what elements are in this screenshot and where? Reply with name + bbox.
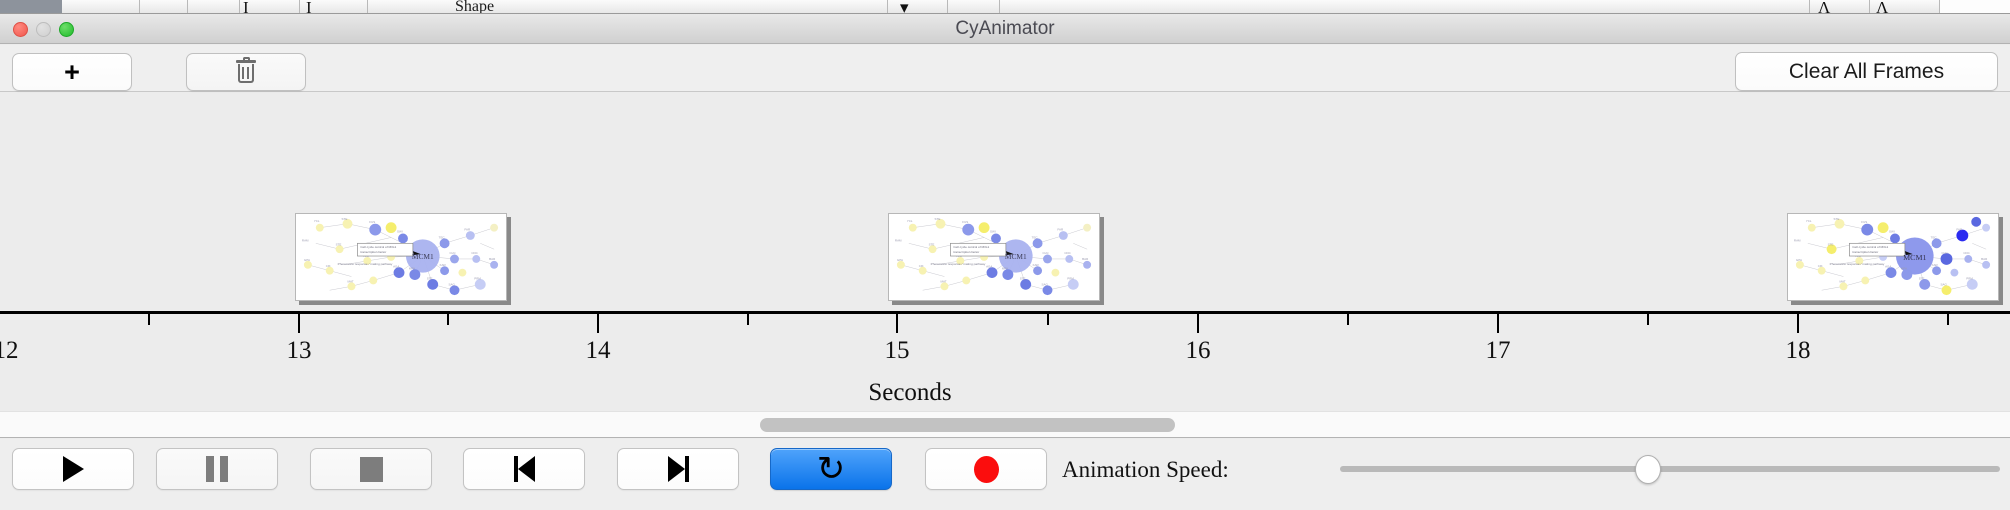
hub-node-label: MCM1 bbox=[1903, 253, 1926, 262]
clear-all-frames-label: Clear All Frames bbox=[1789, 60, 1944, 84]
axis-tick-label: 14 bbox=[586, 337, 611, 365]
axis-minor-tick bbox=[1647, 314, 1649, 325]
stop-icon bbox=[360, 457, 383, 482]
keyframe-thumbnail-3[interactable]: YCLSTE FUSSWI TECFAR CLNCDC BARKAR MFAAG… bbox=[1787, 213, 1999, 301]
keyframe-thumbnail-1[interactable]: YCLSTE FUSSWI TECFAR CLNCDC BARKAR MFAAG… bbox=[295, 213, 507, 301]
axis-major-tick bbox=[1797, 314, 1799, 333]
slider-track[interactable] bbox=[1340, 466, 2000, 472]
svg-text:TEC: TEC bbox=[1931, 235, 1938, 239]
svg-text:PRM: PRM bbox=[1067, 276, 1074, 280]
svg-text:BAR: BAR bbox=[1981, 257, 1987, 261]
axis-tick-label: 12 bbox=[0, 337, 19, 365]
svg-text:SAG: SAG bbox=[1941, 282, 1948, 286]
svg-text:FAR: FAR bbox=[464, 228, 470, 232]
timeline-panel[interactable]: YCLSTE FUSSWI TECFAR CLNCDC BARKAR MFAAG… bbox=[0, 93, 2010, 410]
axis-tick-label: 17 bbox=[1486, 337, 1511, 365]
svg-text:TEC: TEC bbox=[1032, 235, 1039, 239]
svg-text:transcription factor: transcription factor bbox=[360, 250, 386, 254]
svg-text:AGA: AGA bbox=[986, 265, 992, 269]
svg-text:GPA: GPA bbox=[897, 258, 903, 262]
svg-text:Pheromone response / mating pa: Pheromone response / mating pathway bbox=[931, 262, 986, 266]
svg-text:Cell cycle control of M/G1: Cell cycle control of M/G1 bbox=[360, 245, 396, 249]
add-frame-button[interactable]: + bbox=[12, 53, 132, 91]
svg-text:RAM: RAM bbox=[302, 238, 309, 242]
record-icon bbox=[974, 456, 999, 483]
title-bar: CyAnimator bbox=[0, 14, 2010, 44]
svg-text:FUS: FUS bbox=[962, 220, 968, 224]
svg-text:Pheromone response / mating pa: Pheromone response / mating pathway bbox=[338, 262, 393, 266]
axis-minor-tick bbox=[747, 314, 749, 325]
svg-text:SWI: SWI bbox=[1889, 230, 1895, 234]
svg-text:CIK: CIK bbox=[919, 264, 924, 268]
svg-text:FAR: FAR bbox=[1956, 228, 1962, 232]
frame-toolbar: + Clear All Frames bbox=[0, 45, 2010, 92]
animation-speed-label: Animation Speed: bbox=[1062, 457, 1229, 483]
svg-text:CLN: CLN bbox=[1942, 251, 1948, 255]
scrollbar-thumb[interactable] bbox=[760, 418, 1175, 432]
background-window-sliver: I I ▾ Λ Λ Shape bbox=[0, 0, 2010, 14]
svg-text:Cell cycle control of M/G1: Cell cycle control of M/G1 bbox=[953, 245, 989, 249]
svg-text:SAG: SAG bbox=[1042, 282, 1049, 286]
hub-node-label: MCM1 bbox=[412, 252, 434, 261]
axis-tick-label: 13 bbox=[287, 337, 312, 365]
timeline-axis[interactable]: 12 13 14 15 16 17 18 Seconds bbox=[0, 311, 2010, 410]
axis-minor-tick bbox=[148, 314, 150, 325]
svg-text:AGA: AGA bbox=[1885, 265, 1891, 269]
svg-text:GPA: GPA bbox=[304, 258, 310, 262]
clear-all-frames-button[interactable]: Clear All Frames bbox=[1735, 52, 1998, 91]
svg-text:STE: STE bbox=[427, 276, 433, 280]
svg-text:CDC: CDC bbox=[471, 251, 478, 255]
svg-text:CIK: CIK bbox=[326, 264, 331, 268]
svg-text:MFA: MFA bbox=[1002, 267, 1008, 271]
axis-minor-tick bbox=[1347, 314, 1349, 325]
svg-text:SWI: SWI bbox=[397, 230, 403, 234]
pause-button[interactable] bbox=[156, 448, 278, 490]
axis-title: Seconds bbox=[0, 379, 2010, 407]
svg-text:SWI: SWI bbox=[990, 230, 996, 234]
background-window-selected-row bbox=[0, 0, 62, 13]
svg-text:MFA: MFA bbox=[409, 267, 415, 271]
axis-major-tick bbox=[896, 314, 898, 333]
svg-text:KAR: KAR bbox=[440, 263, 446, 267]
axis-major-tick bbox=[1197, 314, 1199, 333]
svg-text:STE: STE bbox=[336, 242, 342, 246]
background-cell bbox=[188, 0, 240, 14]
delete-frame-button[interactable] bbox=[186, 53, 306, 91]
svg-text:PRM: PRM bbox=[1966, 276, 1973, 280]
axis-minor-tick bbox=[447, 314, 449, 325]
svg-text:MFA: MFA bbox=[1901, 267, 1907, 271]
hub-node-label: MCM1 bbox=[1005, 252, 1027, 261]
playback-control-bar: ↻ Animation Speed: bbox=[0, 439, 2010, 510]
keyframe-thumbnail-2[interactable]: YCLSTE FUSSWI TECFAR CLNCDC BARKAR MFAAG… bbox=[888, 213, 1100, 301]
skip-forward-icon bbox=[668, 456, 689, 482]
svg-text:CLN: CLN bbox=[1043, 251, 1049, 255]
timeline-horizontal-scrollbar[interactable] bbox=[0, 411, 2010, 438]
axis-tick-label: 16 bbox=[1186, 337, 1211, 365]
svg-text:STE: STE bbox=[342, 217, 348, 221]
svg-text:STE: STE bbox=[1919, 276, 1925, 280]
trash-icon bbox=[236, 60, 256, 84]
plus-icon: + bbox=[64, 59, 80, 86]
background-column-header-shape: Shape bbox=[455, 0, 494, 14]
svg-text:RAM: RAM bbox=[1794, 238, 1801, 242]
svg-text:STE: STE bbox=[1834, 217, 1840, 221]
svg-text:KAR: KAR bbox=[1932, 263, 1938, 267]
axis-minor-tick bbox=[1047, 314, 1049, 325]
skip-to-end-button[interactable] bbox=[617, 448, 739, 490]
svg-text:TEC: TEC bbox=[439, 235, 446, 239]
window-title: CyAnimator bbox=[0, 14, 2010, 44]
background-cell bbox=[140, 0, 188, 14]
loop-button[interactable]: ↻ bbox=[770, 448, 892, 490]
axis-minor-tick bbox=[1947, 314, 1949, 325]
skip-backward-icon bbox=[514, 456, 535, 482]
svg-text:transcription factor: transcription factor bbox=[953, 250, 979, 254]
axis-tick-label: 15 bbox=[885, 337, 910, 365]
record-button[interactable] bbox=[925, 448, 1047, 490]
svg-text:transcription factor: transcription factor bbox=[1852, 250, 1878, 254]
background-cell bbox=[62, 0, 140, 14]
svg-text:CDC: CDC bbox=[1064, 251, 1071, 255]
svg-text:RAM: RAM bbox=[895, 238, 902, 242]
svg-text:Cell cycle control of M/G1: Cell cycle control of M/G1 bbox=[1852, 245, 1888, 249]
svg-text:Pheromone response / mating pa: Pheromone response / mating pathway bbox=[1830, 262, 1885, 266]
cyanimator-window: I I ▾ Λ Λ Shape CyAnimator + bbox=[0, 0, 2010, 510]
svg-text:FUS: FUS bbox=[369, 220, 375, 224]
axis-major-tick bbox=[298, 314, 300, 333]
axis-line bbox=[0, 311, 2010, 314]
axis-tick-label: 18 bbox=[1786, 337, 1811, 365]
svg-text:CLN: CLN bbox=[450, 251, 456, 255]
svg-text:STE: STE bbox=[935, 217, 941, 221]
loop-icon: ↻ bbox=[817, 452, 846, 486]
background-cell bbox=[1000, 0, 1810, 14]
stop-button[interactable] bbox=[310, 448, 432, 490]
svg-text:STE: STE bbox=[929, 242, 935, 246]
slider-thumb[interactable] bbox=[1635, 455, 1661, 484]
svg-text:MAT: MAT bbox=[941, 279, 947, 283]
axis-major-tick bbox=[597, 314, 599, 333]
svg-text:BAR: BAR bbox=[1082, 257, 1088, 261]
svg-text:STE: STE bbox=[1828, 242, 1834, 246]
svg-text:GPA: GPA bbox=[1796, 258, 1802, 262]
svg-text:BAR: BAR bbox=[489, 257, 495, 261]
svg-text:FUS: FUS bbox=[1861, 220, 1867, 224]
skip-to-start-button[interactable] bbox=[463, 448, 585, 490]
svg-text:CDC: CDC bbox=[1963, 251, 1970, 255]
play-button[interactable] bbox=[12, 448, 134, 490]
svg-text:STE: STE bbox=[1020, 276, 1026, 280]
background-cell bbox=[888, 0, 948, 14]
animation-speed-slider[interactable] bbox=[1340, 448, 2000, 490]
svg-text:MAT: MAT bbox=[1840, 279, 1846, 283]
svg-text:AGA: AGA bbox=[393, 265, 399, 269]
svg-text:PRM: PRM bbox=[474, 276, 481, 280]
svg-text:YCL: YCL bbox=[907, 219, 913, 223]
background-cell bbox=[948, 0, 1000, 14]
svg-text:MAT: MAT bbox=[348, 279, 354, 283]
pause-icon bbox=[206, 456, 228, 482]
svg-text:FAR: FAR bbox=[1057, 228, 1063, 232]
background-cell bbox=[240, 0, 300, 14]
svg-text:SAG: SAG bbox=[449, 282, 456, 286]
svg-text:YCL: YCL bbox=[314, 219, 320, 223]
axis-major-tick bbox=[1497, 314, 1499, 333]
svg-text:KAR: KAR bbox=[1033, 263, 1039, 267]
svg-text:YCL: YCL bbox=[1806, 219, 1812, 223]
play-icon bbox=[63, 456, 84, 482]
svg-text:CIK: CIK bbox=[1818, 264, 1823, 268]
background-cell bbox=[368, 0, 888, 14]
